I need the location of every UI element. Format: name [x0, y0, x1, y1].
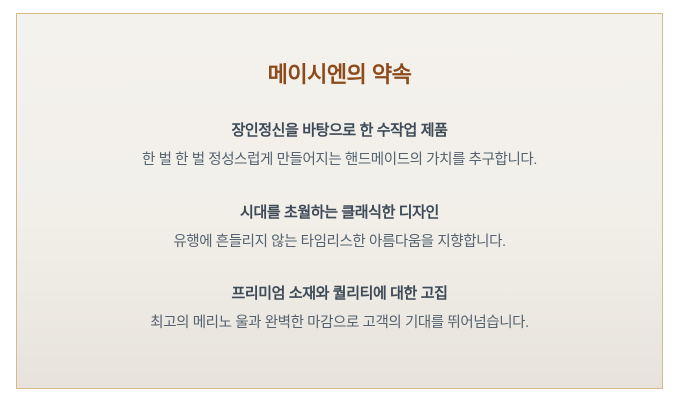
page-title: 메이시엔의 약속 [268, 57, 412, 89]
promise-item-design: 시대를 초월하는 클래식한 디자인 유행에 흔들리지 않는 타임리스한 아름다움… [17, 203, 662, 253]
promise-list: 장인정신을 바탕으로 한 수작업 제품 한 벌 한 벌 정성스럽게 만들어지는 … [17, 121, 662, 334]
promise-heading: 장인정신을 바탕으로 한 수작업 제품 [17, 121, 662, 141]
promise-item-quality: 프리미엄 소재와 퀄리티에 대한 고집 최고의 메리노 울과 완벽한 마감으로 … [17, 284, 662, 334]
brand-promise-panel: 메이시엔의 약속 장인정신을 바탕으로 한 수작업 제품 한 벌 한 벌 정성스… [16, 13, 663, 389]
promise-heading: 시대를 초월하는 클래식한 디자인 [17, 203, 662, 223]
promise-body: 한 벌 한 벌 정성스럽게 만들어지는 핸드메이드의 가치를 추구합니다. [17, 150, 662, 170]
promise-body: 최고의 메리노 울과 완벽한 마감으로 고객의 기대를 뛰어넘습니다. [17, 313, 662, 333]
promise-heading: 프리미엄 소재와 퀄리티에 대한 고집 [17, 284, 662, 304]
promise-body: 유행에 흔들리지 않는 타임리스한 아름다움을 지향합니다. [17, 232, 662, 252]
promise-item-craftsmanship: 장인정신을 바탕으로 한 수작업 제품 한 벌 한 벌 정성스럽게 만들어지는 … [17, 121, 662, 171]
